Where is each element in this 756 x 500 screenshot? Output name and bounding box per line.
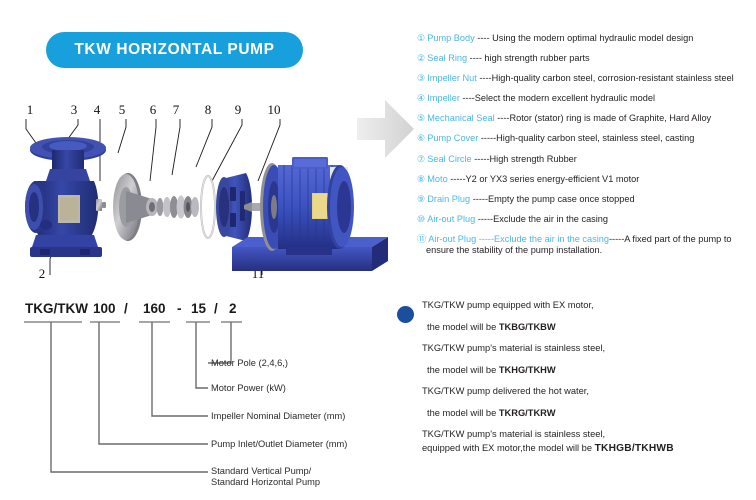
model-segment-inlet: 100 <box>93 301 116 316</box>
feature-number: ⑦ <box>417 154 425 164</box>
model-label-standard-vertical: Standard Vertical Pump/ <box>211 466 312 476</box>
model-separator-1: / <box>124 301 128 316</box>
feature-item: ⑦Seal Circle -----High strength Rubber <box>417 154 756 165</box>
svg-text:3: 3 <box>71 102 78 117</box>
variant-line: the model will be TKBG/TKBW <box>397 322 756 333</box>
variant-line: the model will be TKHG/TKHW <box>397 365 756 376</box>
variant-model-code: TKHG/TKHW <box>499 365 556 375</box>
model-separator-3: / <box>214 301 218 316</box>
variant-line: TKG/TKW pump equipped with EX motor, <box>397 300 756 311</box>
feature-item: ⑥Pump Cover -----High-quality carbon ste… <box>417 133 756 144</box>
variant-text: pump's material is stainless steel, <box>464 343 605 353</box>
feature-number: ⑩ <box>417 214 425 224</box>
feature-name: Pump Cover <box>427 133 478 143</box>
feature-item: ⑩Air-out Plug -----Exclude the air in th… <box>417 214 756 225</box>
feature-description: ----High-quality carbon steel, corrosion… <box>477 73 734 83</box>
variant-model-code: TKBG/TKBW <box>499 322 556 332</box>
variant-text: equipped with EX motor,the model will be <box>422 443 595 453</box>
feature-description: ---- high strength rubber parts <box>467 53 590 63</box>
bullet-dot-icon <box>397 306 414 323</box>
page-title-banner: TKW HORIZONTAL PUMP <box>46 32 303 68</box>
model-separator-2: - <box>177 301 182 316</box>
feature-name: Drain Plug <box>427 194 470 204</box>
feature-number: ⑧ <box>417 174 425 184</box>
svg-text:10: 10 <box>268 102 281 117</box>
feature-item: ⑨Drain Plug -----Empty the pump case onc… <box>417 194 756 205</box>
variant-model-code: TKRG/TKRW <box>499 408 556 418</box>
feature-name: Pump Body <box>427 33 475 43</box>
page-title: TKW HORIZONTAL PUMP <box>74 41 274 59</box>
flow-arrow-icon <box>357 96 415 162</box>
svg-text:9: 9 <box>235 102 242 117</box>
feature-item: ⑧Moto -----Y2 or YX3 series energy-effic… <box>417 174 756 185</box>
feature-number: ⑤ <box>417 113 425 123</box>
variant-line: equipped with EX motor,the model will be… <box>397 443 756 454</box>
feature-description-continued: ensure the stability of the pump install… <box>417 245 756 257</box>
feature-name: Seal Ring <box>427 53 467 63</box>
svg-text:6: 6 <box>150 102 157 117</box>
variant-text: the model will be <box>427 365 499 375</box>
variant-model: TKG/TKW <box>422 343 464 353</box>
svg-text:5: 5 <box>119 102 126 117</box>
variant-model: TKG/TKW <box>422 386 464 396</box>
feature-name: Air-out Plug <box>427 214 475 224</box>
svg-text:2: 2 <box>39 266 46 281</box>
feature-description: -----High strength Rubber <box>472 154 577 164</box>
variant-line: TKG/TKW pump's material is stainless ste… <box>397 343 756 354</box>
feature-description: -----Empty the pump case once stopped <box>470 194 634 204</box>
feature-description: ----Rotor (stator) ring is made of Graph… <box>495 113 711 123</box>
feature-description: ----Select the modern excellent hydrauli… <box>460 93 655 103</box>
model-segment-impeller: 160 <box>143 301 166 316</box>
feature-name: Impeller <box>427 93 460 103</box>
feature-description: -----Exclude the air in the casing <box>475 214 608 224</box>
exploded-pump-diagram: 1 3 4 5 6 7 8 9 10 2 11 <box>0 95 400 285</box>
feature-item: ①Pump Body ---- Using the modern optimal… <box>417 33 756 44</box>
feature-description: -----Y2 or YX3 series energy-efficient V… <box>448 174 640 184</box>
model-label-inlet-outlet: Pump Inlet/Outlet Diameter (mm) <box>211 439 347 449</box>
model-prefix: TKG/TKW <box>25 301 88 316</box>
feature-number: ⑥ <box>417 133 425 143</box>
feature-number: ② <box>417 53 425 63</box>
variant-line: TKG/TKW pump's material is stainless ste… <box>397 429 756 440</box>
variant-text: pump delivered the hot water, <box>464 386 589 396</box>
variant-line: the model will be TKRG/TKRW <box>397 408 756 419</box>
feature-number: ⑨ <box>417 194 425 204</box>
feature-item: ④Impeller ----Select the modern excellen… <box>417 93 756 104</box>
svg-text:7: 7 <box>173 102 180 117</box>
model-label-motor-pole: Motor Pole (2,4,6,) <box>211 358 288 368</box>
variant-text: the model will be <box>427 322 499 332</box>
feature-number: ① <box>417 33 425 43</box>
feature-item: ⑤Mechanical Seal ----Rotor (stator) ring… <box>417 113 756 124</box>
feature-number: ④ <box>417 93 425 103</box>
variant-text: the model will be <box>427 408 499 418</box>
svg-text:4: 4 <box>94 102 101 117</box>
feature-number: ⑪ <box>417 234 426 244</box>
feature-number: ③ <box>417 73 425 83</box>
svg-text:1: 1 <box>27 102 34 117</box>
feature-name: Air-out Plug -----Exclude the air in the… <box>428 234 609 244</box>
feature-name: Moto <box>427 174 447 184</box>
feature-name: Impeller Nut <box>427 73 477 83</box>
variant-model: TKG/TKW <box>422 429 464 439</box>
feature-name: Mechanical Seal <box>427 113 494 123</box>
variant-model-code: TKHGB/TKHWB <box>595 443 674 454</box>
feature-description: -----High-quality carbon steel, stainles… <box>478 133 694 143</box>
variant-line: TKG/TKW pump delivered the hot water, <box>397 386 756 397</box>
variant-text: pump equipped with EX motor, <box>464 300 593 310</box>
model-segment-power: 15 <box>191 301 207 316</box>
variant-text: pump's material is stainless steel, <box>464 429 605 439</box>
variant-notes: TKG/TKW pump equipped with EX motor, the… <box>397 300 756 464</box>
model-code-breakdown: TKG/TKW 100 / 160 - 15 / 2 Motor Pole (2… <box>0 295 395 500</box>
model-label-standard-horizontal: Standard Horizontal Pump <box>211 477 320 487</box>
feature-list: ①Pump Body ---- Using the modern optimal… <box>417 33 756 266</box>
feature-description: -----A fixed part of the pump to <box>609 234 732 244</box>
model-label-motor-power: Motor Power (kW) <box>211 383 286 393</box>
model-label-impeller-diameter: Impeller Nominal Diameter (mm) <box>211 411 345 421</box>
svg-text:8: 8 <box>205 102 212 117</box>
feature-description: ---- Using the modern optimal hydraulic … <box>475 33 694 43</box>
variant-model: TKG/TKW <box>422 300 464 310</box>
feature-item-last: ⑪Air-out Plug -----Exclude the air in th… <box>417 234 756 257</box>
feature-item: ③Impeller Nut ----High-quality carbon st… <box>417 73 756 84</box>
model-segment-pole: 2 <box>229 301 237 316</box>
feature-item: ②Seal Ring ---- high strength rubber par… <box>417 53 756 64</box>
feature-name: Seal Circle <box>427 154 471 164</box>
